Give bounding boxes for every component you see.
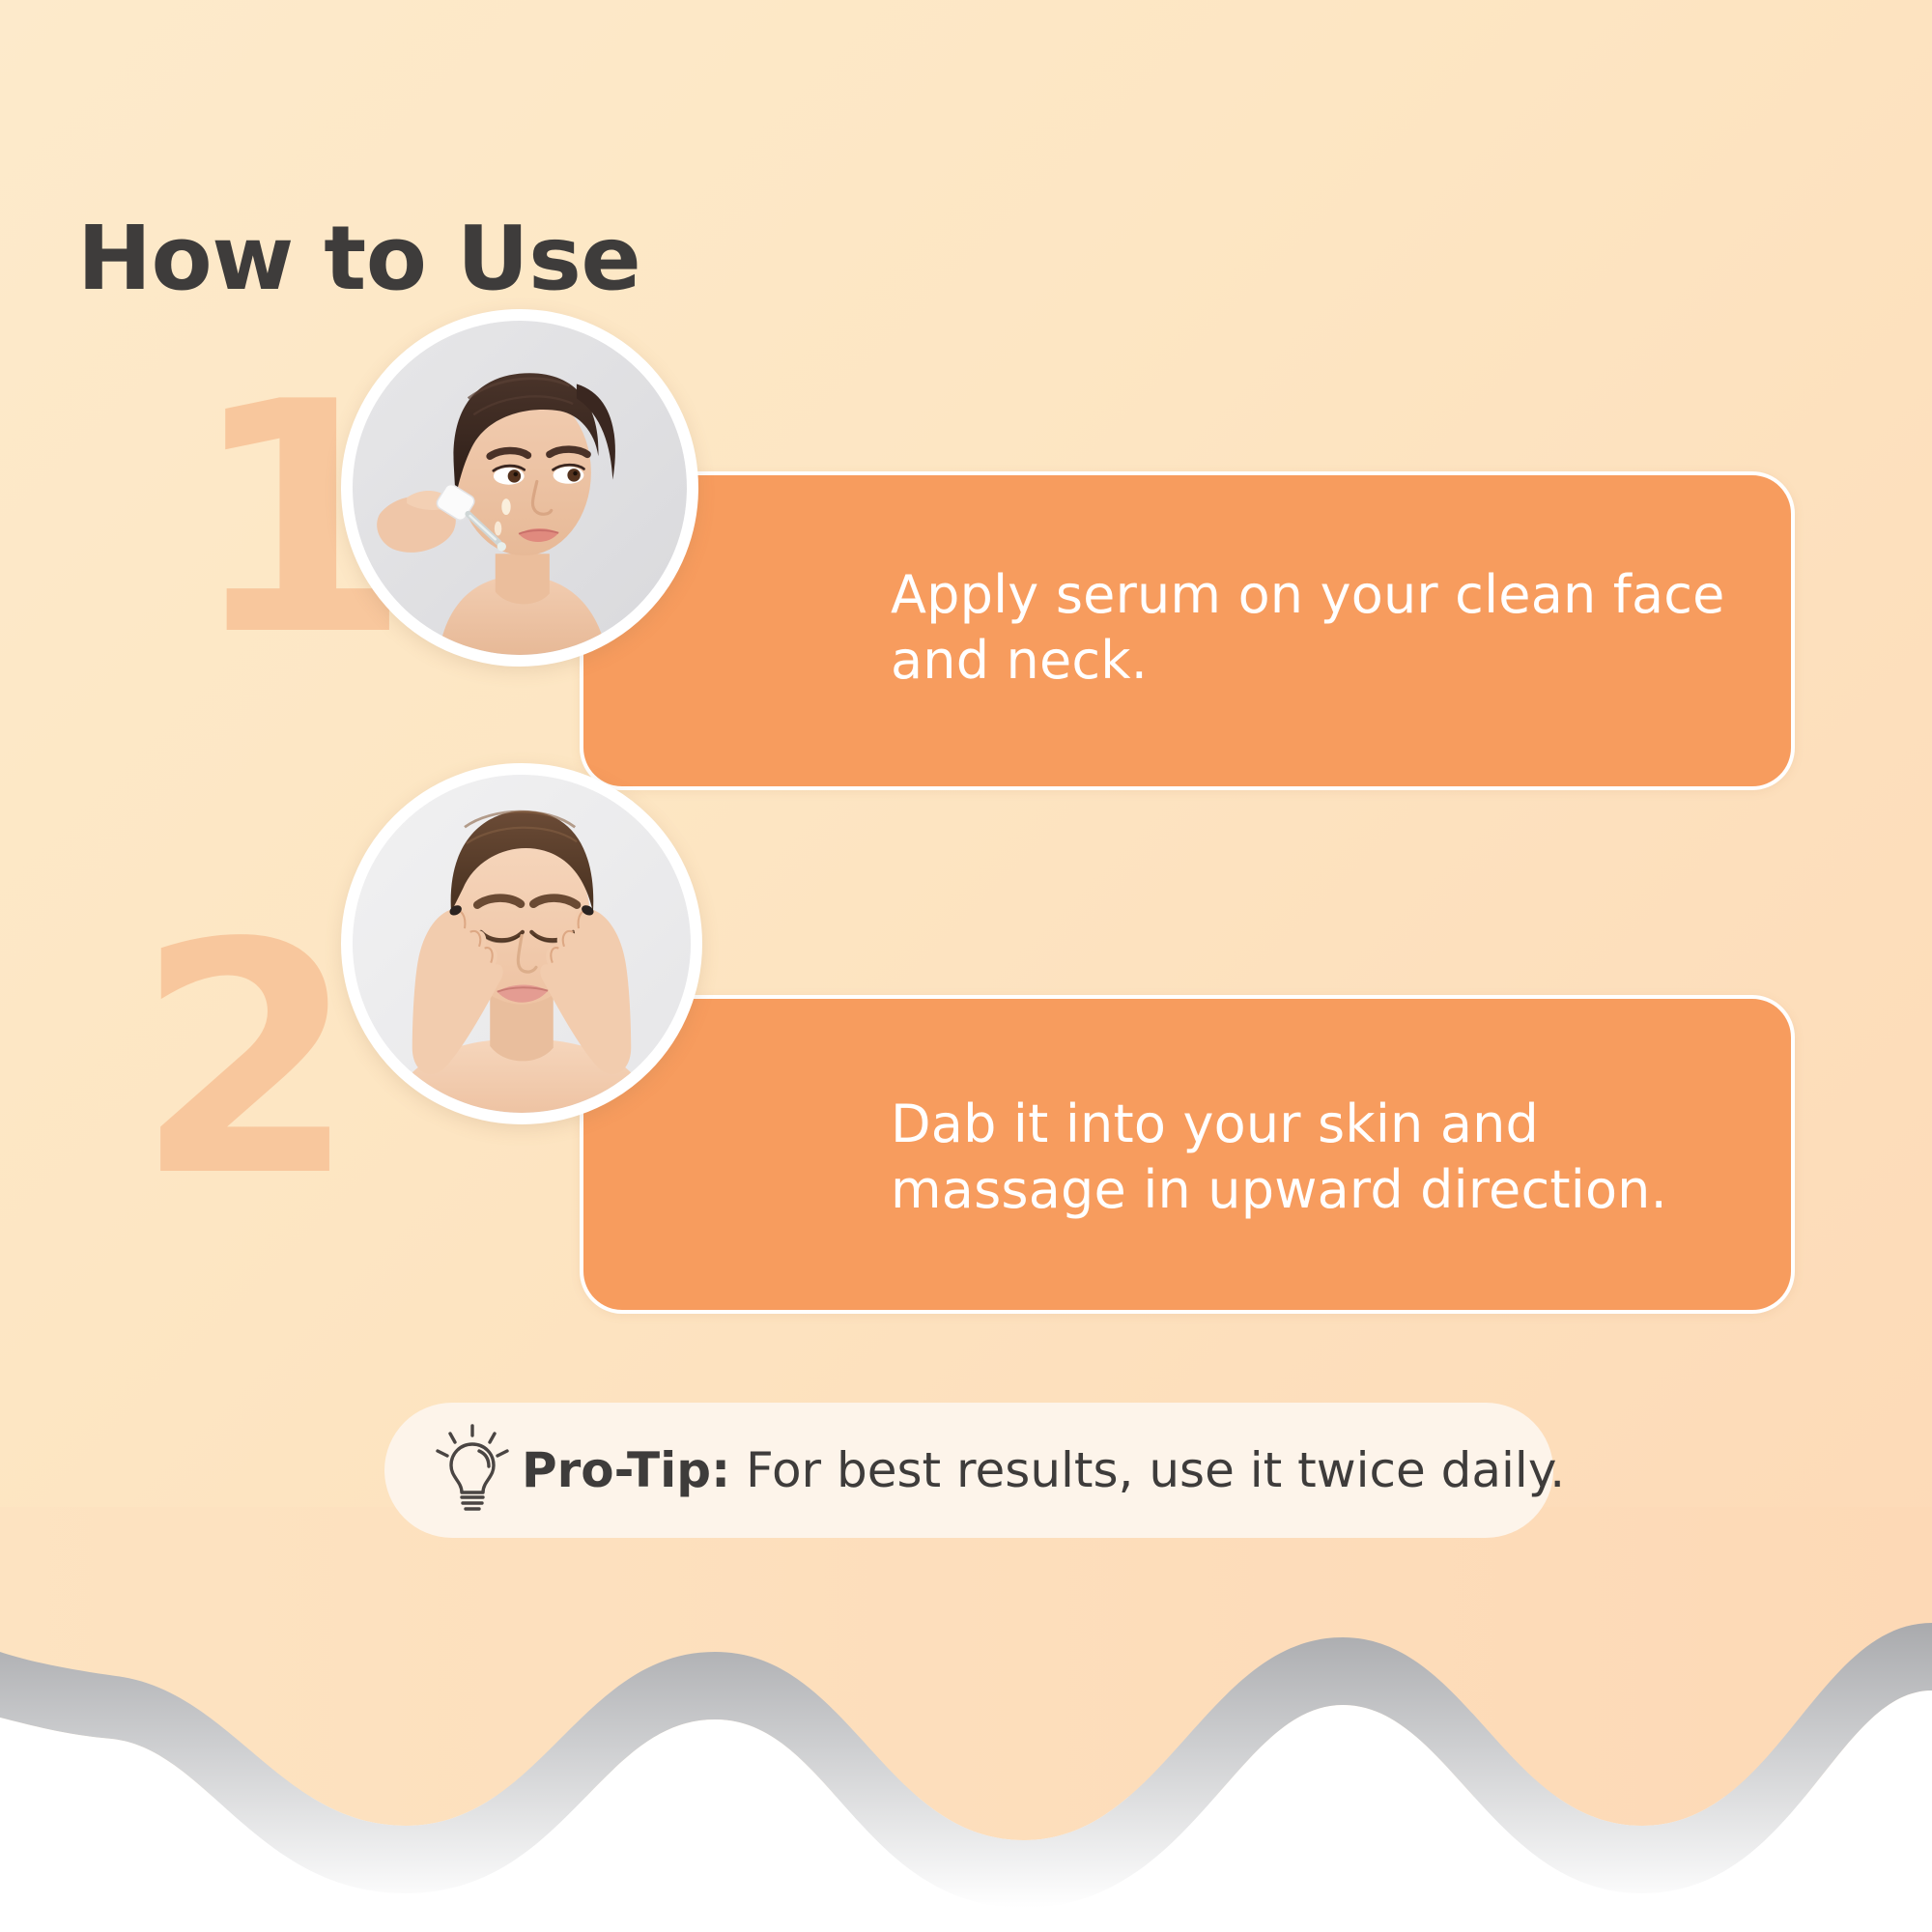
pro-tip-label: Pro-Tip: (522, 1442, 730, 1498)
how-to-use-poster: How to Use 1 Apply serum on your clean f… (0, 0, 1932, 1932)
pro-tip-banner: Pro-Tip: For best results, use it twice … (384, 1403, 1553, 1538)
step-row-2: 2 Dab it into your skin and massage in u… (0, 889, 1932, 1343)
pro-tip-body: For best results, use it twice daily. (730, 1442, 1565, 1498)
pro-tip-text: Pro-Tip: For best results, use it twice … (522, 1442, 1565, 1498)
bottom-wave-decoration (0, 1507, 1932, 1932)
step-photo-2 (341, 763, 702, 1124)
step-text-2: Dab it into your skin and massage in upw… (891, 1092, 1779, 1223)
step-card-1: Apply serum on your clean face and neck. (580, 471, 1795, 790)
lightbulb-icon (435, 1422, 510, 1515)
page-title: How to Use (77, 214, 640, 303)
step-text-1: Apply serum on your clean face and neck. (891, 562, 1750, 694)
step-number-2: 2 (135, 916, 357, 1206)
step-card-2: Dab it into your skin and massage in upw… (580, 995, 1795, 1314)
step-row-1: 1 Apply serum on your clean face and nec… (0, 386, 1932, 831)
step-photo-1 (341, 309, 698, 667)
